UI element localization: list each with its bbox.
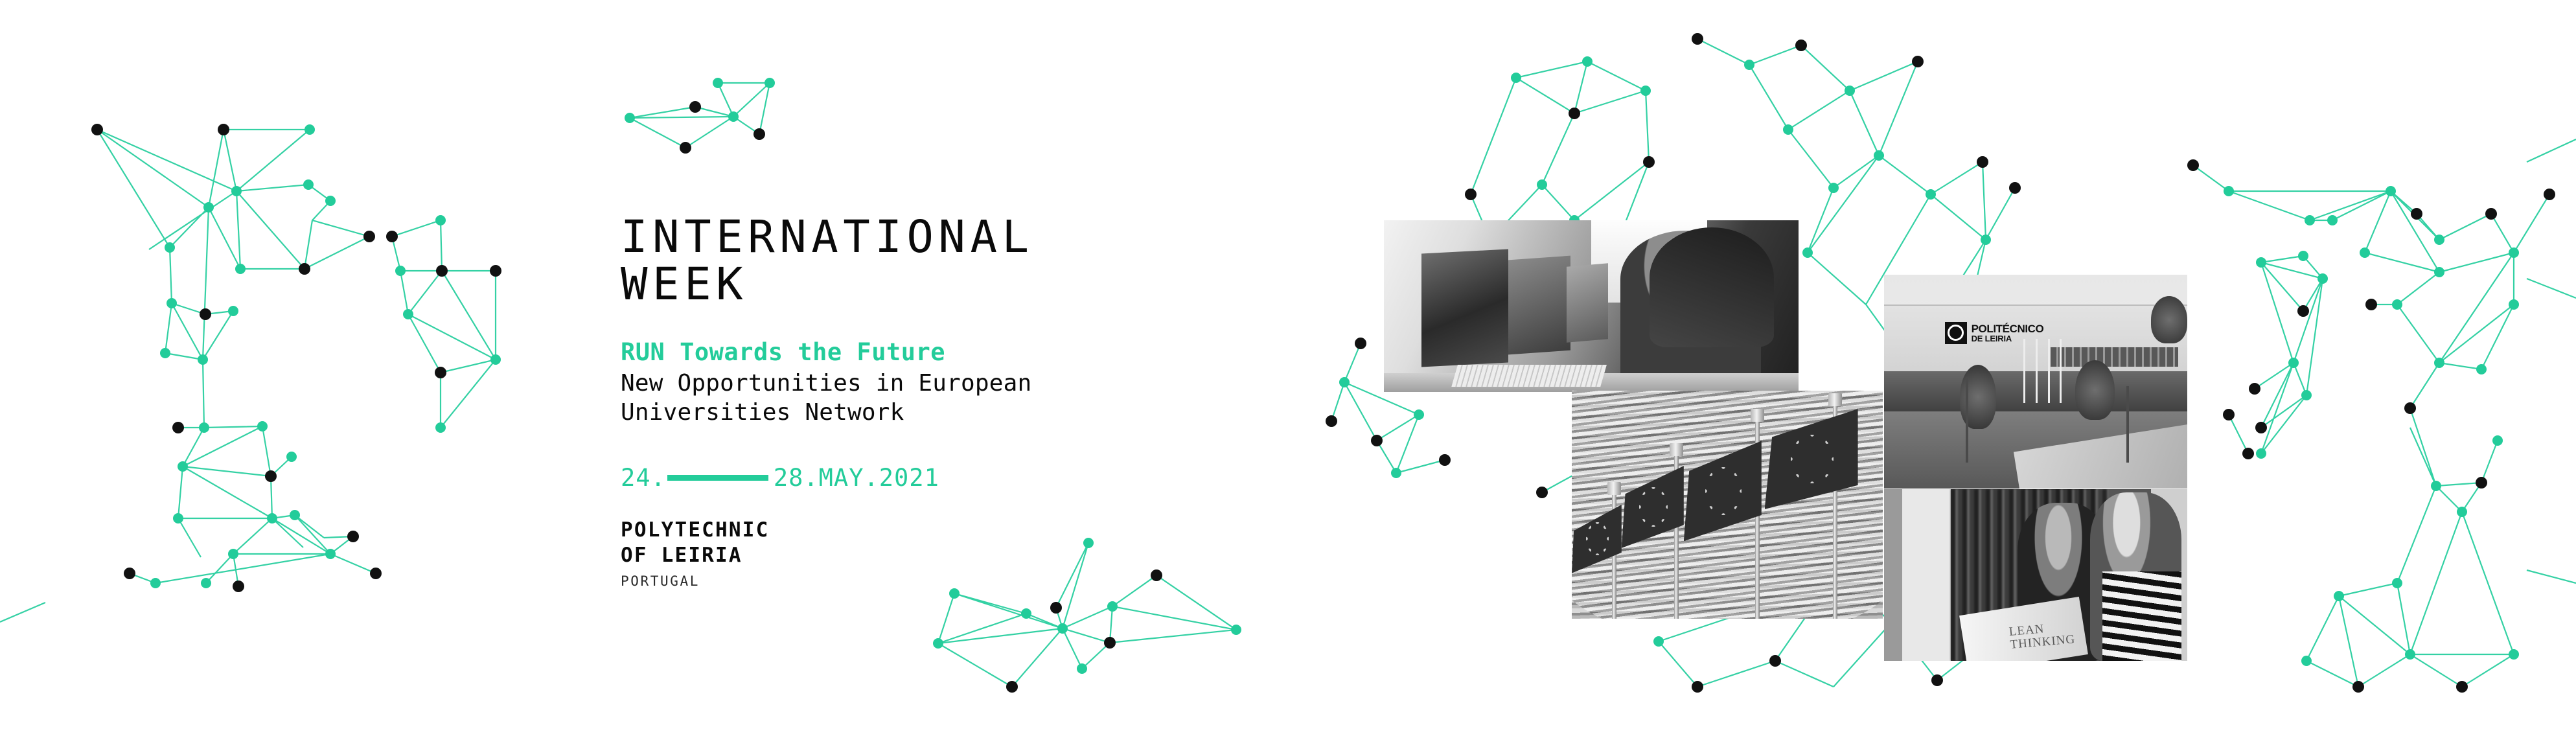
page-title: INTERNATIONAL WEEK xyxy=(621,214,1204,308)
photo-campus-building: POLITÉCNICO DE LEIRIA Polytechnic of Lei… xyxy=(1884,275,2187,489)
photo-collage: Smiling student wearing glasses working … xyxy=(1384,220,2187,661)
date-range-rule xyxy=(667,475,768,481)
banner-root: INTERNATIONAL WEEK RUN Towards the Futur… xyxy=(0,0,2576,736)
photo-european-flags: Row of European Union flags in front of … xyxy=(1572,391,1883,619)
network-decoration xyxy=(0,0,2576,736)
institution-logo: POLYTECHNIC OF LEIRIA PORTUGAL xyxy=(621,518,1204,589)
photo-student-at-computer: Smiling student wearing glasses working … xyxy=(1384,220,1799,392)
logo-country: PORTUGAL xyxy=(621,573,1204,589)
book-title: LEAN THINKING xyxy=(2008,620,2076,652)
headline-block: INTERNATIONAL WEEK RUN Towards the Futur… xyxy=(621,214,1204,589)
campus-sign-line-2: DE LEIRIA xyxy=(1972,334,2044,343)
campus-signage: POLITÉCNICO DE LEIRIA xyxy=(1945,322,2044,344)
date-start: 24. xyxy=(621,464,666,492)
logo-line-2: OF LEIRIA xyxy=(621,543,1204,569)
event-date-range: 24. 28.MAY.2021 xyxy=(621,464,1204,492)
subtitle: New Opportunities in European Universiti… xyxy=(621,369,1204,427)
photo-students-reading: LEAN THINKING Two students reading a boo… xyxy=(1884,489,2187,661)
polytechnic-logo-mark xyxy=(1945,322,1967,344)
campus-sign-line-1: POLITÉCNICO xyxy=(1972,323,2044,334)
logo-line-1: POLYTECHNIC xyxy=(621,518,1204,544)
date-end: 28.MAY.2021 xyxy=(774,464,939,492)
tagline: RUN Towards the Future xyxy=(621,338,1204,367)
